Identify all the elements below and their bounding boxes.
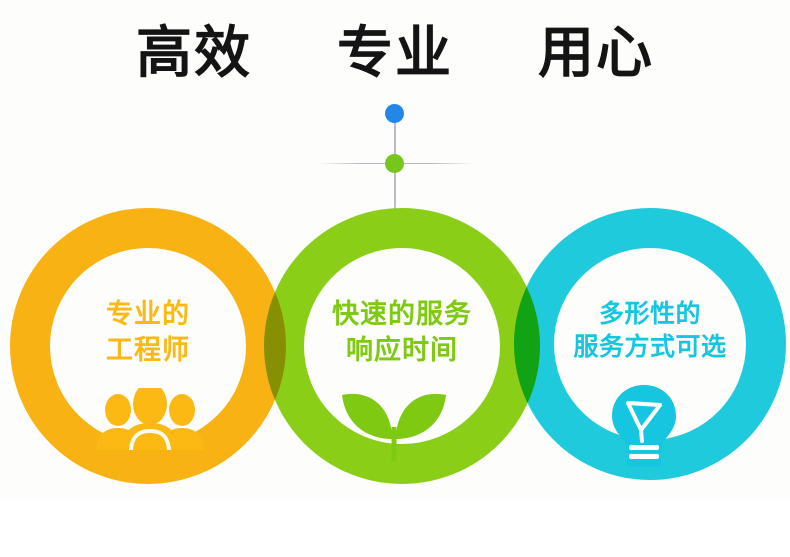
lightbulb-icon: [605, 383, 683, 467]
venn-rings-group: [0, 0, 790, 557]
sprout-icon: [330, 383, 458, 461]
circle-content-engineers: 专业的 工程师: [33, 297, 263, 368]
service-options-line-2: 服务方式可选: [536, 330, 764, 363]
engineers-line-2: 工程师: [33, 333, 263, 369]
circle-content-response-time: 快速的服务 响应时间: [287, 297, 517, 368]
bottom-background-wash: [0, 499, 790, 557]
response-time-line-1: 快速的服务: [287, 297, 517, 333]
infographic-canvas: 高效 专业 用心 专业的 工程师 快速的服务 响应时间 多形性的 服务方式可选: [0, 0, 790, 557]
circle-content-service-options: 多形性的 服务方式可选: [536, 297, 764, 363]
response-time-line-2: 响应时间: [287, 333, 517, 369]
people-group-icon: [96, 388, 204, 450]
service-options-line-1: 多形性的: [536, 297, 764, 330]
engineers-line-1: 专业的: [33, 297, 263, 333]
